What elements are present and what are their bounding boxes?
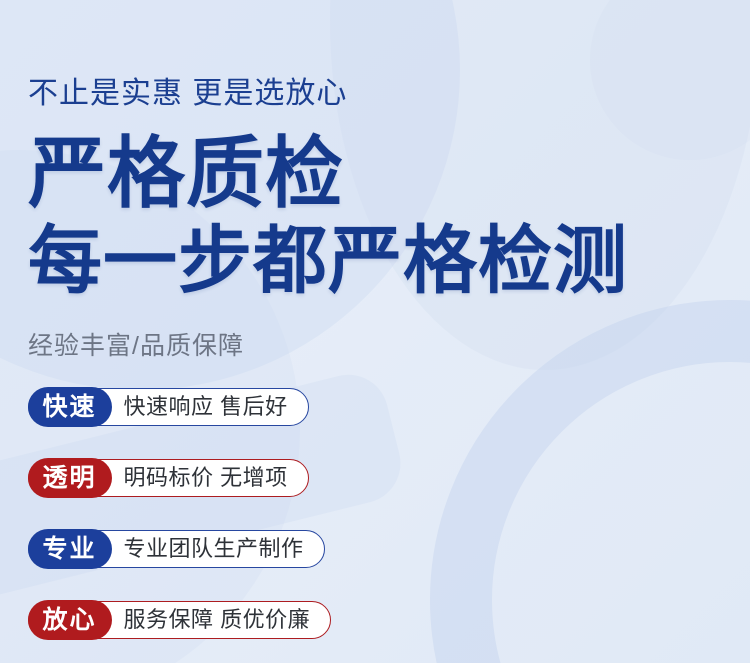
feature-badge-touming: 透明: [28, 458, 112, 498]
banner-content: 不止是实惠 更是选放心 严格质检 每一步都严格检测 经验丰富/品质保障 快速 快…: [0, 0, 750, 663]
feature-pill-touming[interactable]: 透明 明码标价 无增项: [28, 459, 309, 497]
feature-badge-fangxin: 放心: [28, 600, 112, 640]
feature-badge-kuaisu: 快速: [28, 387, 112, 427]
feature-pill-row: 透明 明码标价 无增项: [28, 459, 750, 530]
banner-tagline: 经验丰富/品质保障: [28, 298, 750, 362]
banner-subtitle: 不止是实惠 更是选放心: [28, 0, 750, 112]
banner-headline-line-2: 每一步都严格检测: [28, 212, 750, 298]
feature-pill-row: 快速 快速响应 售后好: [28, 388, 750, 459]
banner-headline-line-1: 严格质检: [28, 112, 750, 212]
feature-pill-fangxin[interactable]: 放心 服务保障 质优价廉: [28, 601, 331, 639]
feature-pill-list: 快速 快速响应 售后好 透明 明码标价 无增项 专业 专业团队生产制作 放心: [28, 362, 750, 663]
feature-pill-row: 放心 服务保障 质优价廉: [28, 601, 750, 663]
feature-pill-zhuanye[interactable]: 专业 专业团队生产制作: [28, 530, 325, 568]
feature-pill-row: 专业 专业团队生产制作: [28, 530, 750, 601]
promo-banner: 不止是实惠 更是选放心 严格质检 每一步都严格检测 经验丰富/品质保障 快速 快…: [0, 0, 750, 663]
feature-badge-zhuanye: 专业: [28, 529, 112, 569]
feature-pill-kuaisu[interactable]: 快速 快速响应 售后好: [28, 388, 309, 426]
